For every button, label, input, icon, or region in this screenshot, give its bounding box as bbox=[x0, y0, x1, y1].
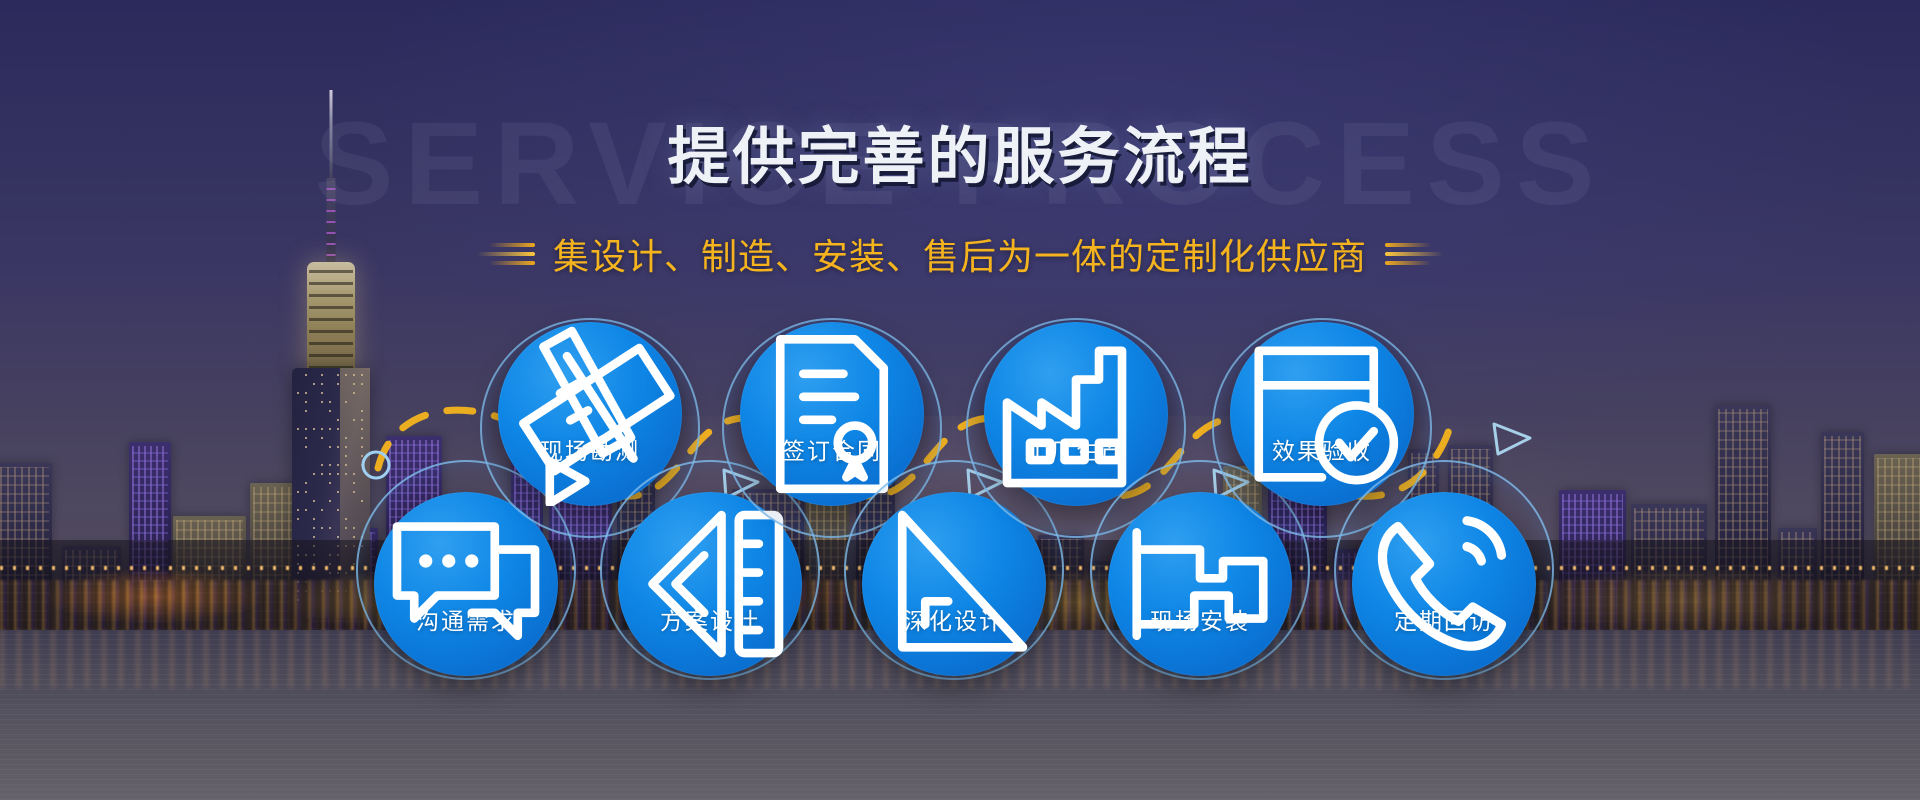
service-process-banner: SERVICE PROCESS 提供完善的服务流程 集设计、制造、安装、售后为一… bbox=[0, 0, 1920, 800]
ruler-pencil-icon bbox=[561, 362, 619, 420]
power-drill-icon bbox=[1171, 532, 1229, 590]
design-ruler-icon bbox=[681, 532, 739, 590]
set-square-icon bbox=[925, 532, 983, 590]
contract-document-icon bbox=[803, 362, 861, 420]
phone-callback-icon bbox=[1415, 532, 1473, 590]
process-path-svg bbox=[0, 0, 1920, 800]
factory-icon bbox=[1047, 362, 1105, 420]
process-flow: 沟通需求 现场勘测 bbox=[0, 0, 1920, 800]
checked-document-icon bbox=[1293, 362, 1351, 420]
chat-bubble-icon bbox=[437, 532, 495, 590]
step-disc[interactable]: 定期回访 bbox=[1352, 492, 1536, 676]
process-step-9[interactable]: 定期回访 bbox=[1334, 460, 1554, 680]
flow-arrow-end-icon bbox=[1494, 424, 1530, 454]
